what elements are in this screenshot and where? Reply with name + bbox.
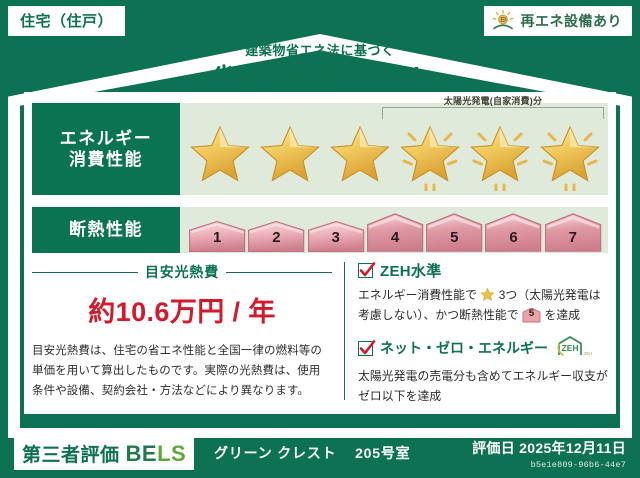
compliance-claims: ZEH水準 エネルギー消費性能で 3つ（太陽光発電は考慮しない）、かつ断熱性能で…: [358, 260, 608, 410]
insulation-grade-chip: 4: [366, 212, 424, 253]
insulation-grade-scale: 1 2: [188, 207, 602, 253]
building-type-pill: 住宅（住戸）: [8, 6, 125, 36]
evaluation-date-block: 評価日 2025年12月11日 b5e1e809-96b6-44e7: [472, 438, 626, 470]
utility-cost-block: 目安光熱費 約10.6万円 / 年 目安光熱費は、住宅の省エネ性能と全国一律の燃…: [32, 262, 332, 401]
claim-net-zero-energy: ネット・ゼロ・エネルギー ZEH ZEH 太陽光発電の売電分も含めてエネルギー収…: [358, 335, 608, 407]
label-background: 住宅（住戸） 再エネ設備あり 建築物省エネ法に基づく 省エネ性能ラベル エネル: [0, 0, 640, 478]
star-filled: [256, 121, 324, 191]
star-solar: [396, 121, 464, 191]
bels-logo: BELS: [126, 441, 187, 467]
utility-cost-value: 約10.6万円 / 年: [32, 290, 332, 329]
evaluation-date: 評価日 2025年12月11日: [472, 438, 626, 458]
third-party-eval-label: 第三者評価: [22, 440, 120, 467]
insulation-grade-chip: 1: [188, 220, 246, 253]
renewable-badge-label: 再エネ設備あり: [521, 11, 623, 31]
svg-text:ZEH: ZEH: [584, 351, 592, 356]
energy-performance-label: エネルギー 消費性能: [32, 103, 180, 195]
bels-certification-pill: 第三者評価 BELS: [14, 438, 194, 470]
insulation-grade-chip: 5: [425, 212, 483, 253]
claim-net-zero-title: ネット・ゼロ・エネルギー: [380, 338, 548, 358]
label-subtitle: 建築物省エネ法に基づく: [0, 40, 640, 59]
solar-sun-icon: [490, 9, 516, 33]
insulation-grade-chip: 7: [544, 212, 602, 253]
building-name: グリーン クレスト: [214, 445, 336, 461]
insulation-grade-chip: 2: [247, 220, 305, 253]
checkbox-checked-icon[interactable]: [358, 263, 373, 278]
solar-annotation-label: 太陽光発電(自家消費)分: [382, 94, 604, 107]
claim-zeh-standard: ZEH水準 エネルギー消費性能で 3つ（太陽光発電は考慮しない）、かつ断熱性能で…: [358, 260, 608, 326]
insulation-performance-row: 断熱性能 1: [32, 207, 608, 253]
star-filled: [186, 121, 254, 191]
checkbox-checked-icon[interactable]: [358, 341, 373, 356]
room-number: 205号室: [355, 445, 410, 461]
heading-rule-right: [226, 272, 332, 273]
insulation-grade-chip: 3: [307, 220, 365, 253]
label-footer: 第三者評価 BELS グリーン クレスト 205号室 評価日 2025年12月1…: [0, 430, 640, 478]
label-title: 省エネ性能ラベル: [0, 58, 640, 95]
svg-text:ZEH: ZEH: [562, 343, 579, 353]
claim-net-zero-header: ネット・ゼロ・エネルギー ZEH ZEH: [358, 335, 608, 362]
star-filled: [326, 121, 394, 191]
column-divider: [344, 262, 345, 400]
star-solar: [466, 121, 534, 191]
renewable-energy-badge: 再エネ設備あり: [484, 6, 633, 36]
claim-zeh-standard-body: エネルギー消費性能で 3つ（太陽光発電は考慮しない）、かつ断熱性能で 5 を達成: [358, 285, 608, 326]
claim-net-zero-body: 太陽光発電の売電分も含めてエネルギー収支がゼロ以下を達成: [358, 366, 608, 407]
utility-cost-heading-text: 目安光熱費: [145, 262, 219, 282]
star-rating: [186, 119, 604, 193]
star-solar: [536, 121, 604, 191]
utility-cost-heading: 目安光熱費: [32, 262, 332, 282]
solar-annotation-bracket: [382, 107, 604, 119]
insulation-chips-area: 1 2: [180, 207, 608, 253]
claim-zeh-standard-title: ZEH水準: [380, 260, 442, 281]
star-icon: [480, 287, 495, 302]
insulation-grade-chip: 6: [484, 212, 542, 253]
insulation-performance-label: 断熱性能: [32, 207, 180, 253]
insulation-grade-inline-chip: 5: [522, 307, 541, 323]
energy-performance-row: エネルギー 消費性能 太陽光発電(自家消費)分: [32, 103, 608, 195]
utility-cost-note: 目安光熱費は、住宅の省エネ性能と全国一律の燃料等の単価を用いて算出したものです。…: [32, 341, 332, 401]
zeh-house-logo: ZEH ZEH: [555, 335, 595, 362]
claim-zeh-standard-header: ZEH水準: [358, 260, 608, 281]
heading-rule-left: [32, 272, 138, 273]
record-id: b5e1e809-96b6-44e7: [472, 460, 626, 470]
claim-text-part1: エネルギー消費性能で: [358, 288, 477, 302]
claim-text-part3: を達成: [544, 308, 580, 322]
building-info: グリーン クレスト 205号室: [214, 443, 410, 463]
energy-stars-area: 太陽光発電(自家消費)分: [180, 103, 608, 195]
